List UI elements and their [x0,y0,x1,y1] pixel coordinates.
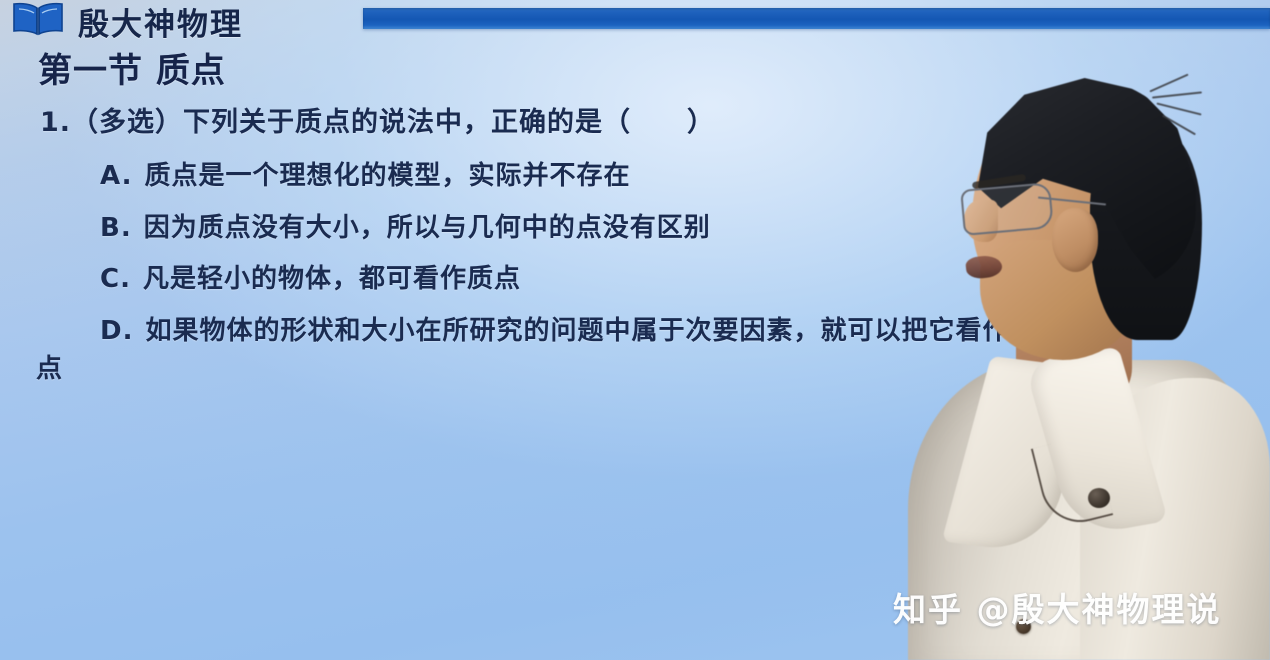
option-b-text: 因为质点没有大小，所以与几何中的点没有区别 [144,213,711,243]
option-a: A.质点是一个理想化的模型，实际并不存在 [100,155,631,192]
lapel-mic-icon [1088,488,1110,508]
option-c-letter: C. [100,264,131,294]
instructor-hair-wisp [1149,74,1188,93]
instructor-hair-wisp [1156,102,1201,115]
option-b-letter: B. [100,213,132,243]
option-c-text: 凡是轻小的物体，都可看作质点 [143,264,521,294]
instructor-figure [880,60,1270,660]
section-title: 第一节 质点 [38,43,226,92]
channel-watermark: 知乎 @殷大神物理说 [893,583,1222,631]
header-accent-bar [363,8,1270,29]
slide-header: 殷大神物理 [0,0,1270,38]
instructor-ear [1052,208,1098,272]
option-a-text: 质点是一个理想化的模型，实际并不存在 [144,161,630,191]
open-book-icon [10,2,66,36]
option-d-letter: D. [100,316,133,346]
question-stem: 1.（多选）下列关于质点的说法中，正确的是（ ） [40,100,715,139]
option-d-wrapped-tail: 点 [36,348,63,385]
option-c: C.凡是轻小的物体，都可看作质点 [100,258,521,295]
brand-title: 殷大神物理 [78,0,243,44]
option-a-letter: A. [100,161,132,191]
glasses-icon [960,182,1054,236]
instructor-hair-wisp [1152,91,1202,98]
lecture-video-frame: 殷大神物理 第一节 质点 1.（多选）下列关于质点的说法中，正确的是（ ） A.… [0,0,1270,660]
option-b: B.因为质点没有大小，所以与几何中的点没有区别 [100,207,711,244]
